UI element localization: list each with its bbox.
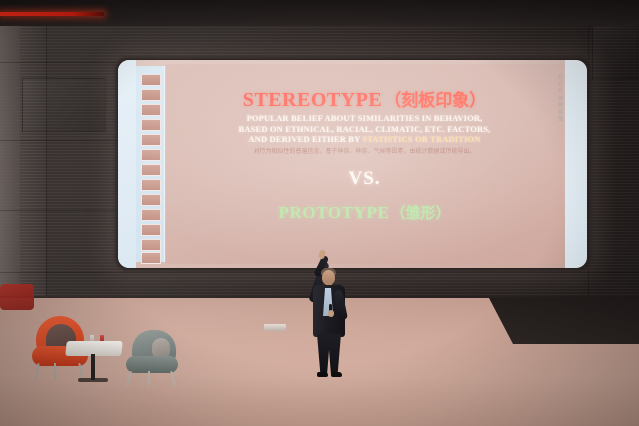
armchair-leg [54, 363, 56, 379]
ppt-vertical-label: 幻灯片放映视图 [549, 74, 563, 123]
slide-thumbnail[interactable] [141, 224, 161, 236]
slide-thumbnail[interactable] [141, 119, 161, 131]
ceiling-led-strip [0, 12, 104, 16]
slide-thumbnail[interactable] [141, 74, 161, 86]
body-line-1: POPULAR BELIEF ABOUT SIMILARITIES IN BEH… [239, 113, 491, 124]
floor-dark-corner [489, 298, 639, 344]
wall-seam-1 [46, 0, 47, 300]
slide-thumbnail[interactable] [141, 134, 161, 146]
body-line-3: AND DERIVED EITHER BY STATISTICS OR TRAD… [239, 134, 491, 145]
slide-chinese-caption: 对行为相似性的普遍信念，基于种族、种族、气候等因素，由统计数据或传统导出。 [239, 147, 491, 156]
table-base [78, 378, 108, 382]
grey-armchair [122, 330, 182, 386]
armchair-leg [34, 363, 39, 379]
slide-thumbnail-rail[interactable] [136, 66, 165, 262]
wall-seam-2 [0, 62, 116, 63]
wall-seam-3 [0, 140, 116, 141]
slide-canvas: STEREOTYPE （刻板印象） POPULAR BELIEF ABOUT S… [166, 64, 563, 264]
table-post [91, 354, 95, 380]
projection-screen[interactable]: STEREOTYPE （刻板印象） POPULAR BELIEF ABOUT S… [118, 60, 587, 268]
slide-thumbnail[interactable] [141, 252, 161, 264]
slide-thumbnail[interactable] [141, 149, 161, 161]
slide-thumbnail[interactable] [141, 104, 161, 116]
slide-thumbnail[interactable] [141, 194, 161, 206]
presenter-hand-holding-mic [328, 310, 334, 317]
presenter-shoe-left [317, 372, 328, 377]
grey-armchair-leg [148, 371, 150, 386]
slide-thumbnail[interactable] [141, 239, 161, 251]
wall-sign [264, 324, 286, 331]
slide-thumbnail[interactable] [141, 209, 161, 221]
presenter [300, 258, 364, 380]
slide-subtitle: PROTOTYPE （雏形） [279, 202, 451, 223]
body-line-2: BASED ON ETHNICAL, RACIAL, CLIMATIC, ETC… [239, 124, 491, 135]
red-seat-background [0, 284, 34, 310]
acoustic-panel-left [22, 78, 106, 132]
slide-subtitle-cn: （雏形） [390, 202, 450, 223]
slide-body: POPULAR BELIEF ABOUT SIMILARITIES IN BEH… [239, 113, 491, 156]
slide-title: STEREOTYPE （刻板印象） [243, 86, 486, 112]
wall-seam-4 [0, 210, 116, 211]
body-line-3-plain: AND DERIVED EITHER BY [248, 134, 362, 144]
ppt-right-margin [565, 60, 587, 268]
presentation-photo: STEREOTYPE （刻板印象） POPULAR BELIEF ABOUT S… [0, 0, 639, 426]
slide-thumbnail[interactable] [141, 164, 161, 176]
slide-subtitle-en: PROTOTYPE [279, 203, 390, 223]
grey-armchair-leg [126, 371, 132, 386]
side-table [66, 341, 122, 387]
slide-thumbnail[interactable] [141, 179, 161, 191]
grey-armchair-leg [170, 371, 176, 386]
slide-title-cn: （刻板印象） [384, 86, 486, 111]
slide-thumbnail[interactable] [141, 89, 161, 101]
left-wall-far-panel [0, 0, 20, 300]
body-line-3-highlight: STATISTICS OR TRADITION [362, 134, 480, 144]
ppt-left-margin [118, 60, 136, 268]
presenter-shoe-right [331, 372, 342, 377]
presenter-legs [317, 334, 341, 374]
slide-title-en: STEREOTYPE [243, 89, 382, 112]
slide-versus: VS. [348, 168, 380, 190]
